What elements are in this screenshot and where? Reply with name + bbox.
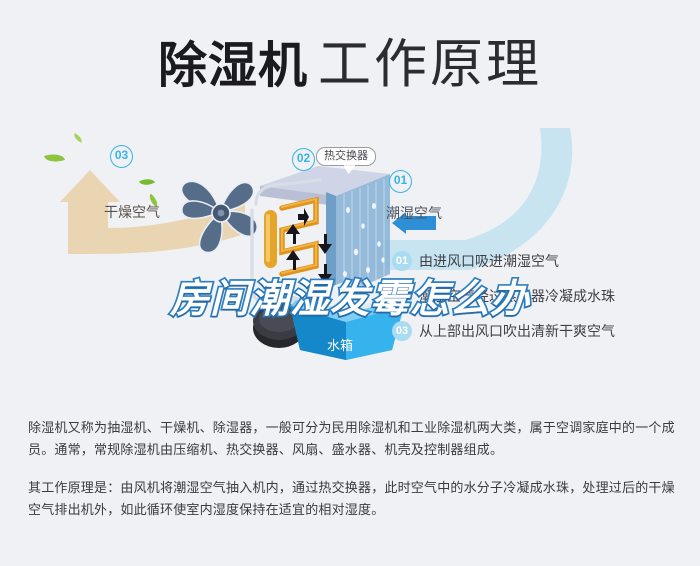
moist-air-label: 潮湿空气 — [386, 203, 442, 223]
body-copy: 除湿机又称为抽湿机、干燥机、除湿器，一般可分为民用除湿机和工业除湿机两大类，属于… — [28, 418, 676, 538]
water-tank-label: 水箱 — [327, 335, 353, 354]
leaf-icon — [72, 133, 84, 143]
callout-label: 热交换器 — [324, 150, 368, 162]
overlay-headline: 房间潮湿发霉怎么办 — [0, 268, 700, 324]
paragraph-1: 除湿机又称为抽湿机、干燥机、除湿器，一般可分为民用除湿机和工业除湿机两大类，属于… — [28, 418, 676, 462]
step-label: 从上部出风口吹出清新干爽空气 — [419, 321, 615, 341]
heat-exchanger-callout: 热交换器 — [316, 147, 376, 166]
page-title-light: 工作原理 — [318, 35, 542, 94]
page-title-bold: 除湿机 — [158, 37, 308, 94]
diagram-badge-01: 01 — [389, 170, 412, 193]
dry-air-label: 干燥空气 — [104, 202, 160, 222]
page-title: 除湿机工作原理 — [0, 22, 700, 98]
paragraph-2: 其工作原理是：由风机将潮湿空气抽入机内，通过热交换器，此时空气中的水分子冷凝成水… — [28, 478, 676, 522]
diagram-badge-02: 02 — [292, 148, 315, 171]
diagram-badge-03: 03 — [110, 145, 133, 168]
step-number: 03 — [392, 321, 412, 341]
